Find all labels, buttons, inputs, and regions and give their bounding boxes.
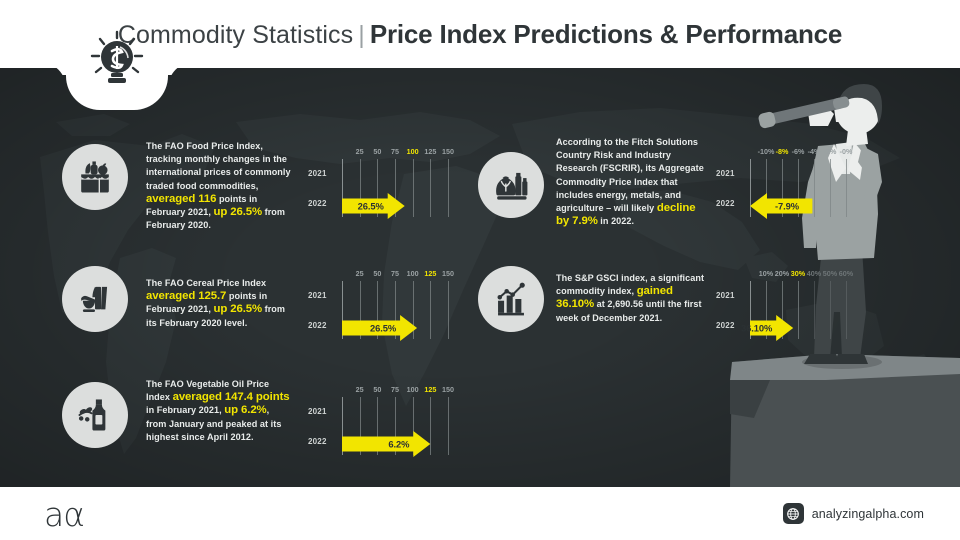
panel-4-description: According to the Fitch Solutions Country… <box>556 136 706 228</box>
body-text: in February 2021, <box>146 405 224 415</box>
chart-value-label: 26.5% <box>358 201 384 212</box>
chart-value-label: 36.10% <box>741 323 772 334</box>
highlight-text: averaged 116 <box>146 193 216 205</box>
footer-bar: aα analyzingalpha.com <box>0 487 960 540</box>
infographic-canvas: Commodity Statistics|Price Index Predict… <box>0 0 960 540</box>
body-text: in 2022. <box>598 216 634 226</box>
axis-tick-label: 25 <box>356 269 364 278</box>
chart-row-label-2021: 2021 <box>308 169 327 178</box>
site-credit: analyzingalpha.com <box>783 503 924 524</box>
highlight-text: averaged 125.7 <box>146 290 226 302</box>
chart-row-label-2022: 2022 <box>308 199 327 208</box>
chart-arrow: 6.2% <box>342 431 430 457</box>
panel-2-description: The FAO Cereal Price Index averaged 125.… <box>146 277 292 330</box>
axis-tick-label: 50 <box>373 147 381 156</box>
commodity-sacks-icon <box>478 152 544 218</box>
panel-1-description: The FAO Food Price Index, tracking month… <box>146 140 292 232</box>
chart-2-axis: 2550751001251502021202226.5% <box>308 267 458 347</box>
axis-tick-label: 100 <box>407 385 419 394</box>
grain-mortar-icon <box>62 266 128 332</box>
brand-logo: aα <box>44 495 84 534</box>
axis-gridline <box>448 397 449 455</box>
panel-5-description: The S&P GSCI index, a significant commod… <box>556 272 706 325</box>
chart-value-label: 6.2% <box>388 439 409 450</box>
axis-tick-label: -0% <box>840 147 853 156</box>
axis-gridline <box>448 159 449 217</box>
body-text: The FAO Food Price Index, tracking month… <box>146 141 291 191</box>
chart-sp-gsci-index: 10%20%30%40%50%60%2021202236.10% <box>716 267 856 347</box>
axis-tick-label: 100 <box>407 269 419 278</box>
chart-value-label: -7.9% <box>775 201 799 212</box>
bar-chart-growth-icon <box>478 266 544 332</box>
chart-row-label-2022: 2022 <box>308 437 327 446</box>
axis-tick-label: 150 <box>442 385 454 394</box>
chart-row-label-2021: 2021 <box>716 169 735 178</box>
chart-value-label: 26.5% <box>370 323 396 334</box>
axis-gridline <box>830 281 831 339</box>
chart-5-axis: 10%20%30%40%50%60%2021202236.10% <box>716 267 856 347</box>
chart-4-axis: -10%-8%-6%-4%-2%-0%20212022-7.9% <box>716 145 856 225</box>
chart-fao-cereal-price-index: 2550751001251502021202226.5% <box>308 267 458 347</box>
axis-tick-label: 20% <box>775 269 789 278</box>
chart-arrow: -7.9% <box>750 193 812 219</box>
chart-3-axis: 255075100125150202120226.2% <box>308 383 458 463</box>
axis-tick-label: 50% <box>823 269 837 278</box>
axis-tick-label: 40% <box>807 269 821 278</box>
axis-tick-label: 125 <box>424 147 436 156</box>
chart-row-label-2022: 2022 <box>308 321 327 330</box>
chart-fao-vegetable-oil-price-index: 255075100125150202120226.2% <box>308 383 458 463</box>
axis-gridline <box>430 281 431 339</box>
lightbulb-dollar-icon <box>82 24 152 94</box>
chart-row-label-2021: 2021 <box>716 291 735 300</box>
axis-tick-label: 50 <box>373 385 381 394</box>
chart-fscrir-index: -10%-8%-6%-4%-2%-0%20212022-7.9% <box>716 145 856 225</box>
globe-icon <box>783 503 804 524</box>
chart-row-label-2021: 2021 <box>308 407 327 416</box>
axis-tick-label: 25 <box>356 385 364 394</box>
chart-arrow: 26.5% <box>342 193 405 219</box>
title-separator: | <box>353 21 370 49</box>
grocery-basket-icon <box>62 144 128 210</box>
axis-tick-label: -4% <box>808 147 821 156</box>
axis-tick-label: 150 <box>442 147 454 156</box>
highlight-text: averaged 147.4 points <box>173 391 290 403</box>
axis-tick-label: 50 <box>373 269 381 278</box>
site-url: analyzingalpha.com <box>812 507 924 521</box>
axis-gridline <box>830 159 831 217</box>
axis-tick-label: 10% <box>759 269 773 278</box>
chart-row-label-2022: 2022 <box>716 199 735 208</box>
axis-gridline <box>413 159 414 217</box>
axis-tick-label: 60% <box>839 269 853 278</box>
axis-gridline <box>430 159 431 217</box>
highlight-text: up 6.2% <box>224 404 266 416</box>
axis-tick-label: 100 <box>407 147 419 156</box>
panel-3-description: The FAO Vegetable Oil Price Index averag… <box>146 378 292 444</box>
axis-gridline <box>846 281 847 339</box>
axis-tick-label: 75 <box>391 269 399 278</box>
title-light-part: Commodity Statistics <box>118 21 353 49</box>
chart-1-axis: 2550751001251502021202226.5% <box>308 145 458 225</box>
olive-oil-bottle-icon <box>62 382 128 448</box>
chart-arrow: 26.5% <box>342 315 417 341</box>
chart-row-label-2022: 2022 <box>716 321 735 330</box>
chart-row-label-2021: 2021 <box>308 291 327 300</box>
chart-fao-food-price-index: 2550751001251502021202226.5% <box>308 145 458 225</box>
axis-tick-label: 30% <box>791 269 805 278</box>
axis-tick-label: 125 <box>424 269 436 278</box>
axis-gridline <box>798 281 799 339</box>
axis-tick-label: -8% <box>776 147 789 156</box>
axis-tick-label: -2% <box>824 147 837 156</box>
axis-gridline <box>814 159 815 217</box>
axis-gridline <box>448 281 449 339</box>
axis-tick-label: 25 <box>356 147 364 156</box>
axis-tick-label: 150 <box>442 269 454 278</box>
axis-tick-label: -6% <box>792 147 805 156</box>
axis-gridline <box>814 281 815 339</box>
title-bold-part: Price Index Predictions & Performance <box>370 19 842 49</box>
body-text: The FAO Cereal Price Index <box>146 278 266 288</box>
axis-gridline <box>846 159 847 217</box>
axis-tick-label: 75 <box>391 385 399 394</box>
highlight-text: up 26.5% <box>213 206 262 218</box>
chart-arrow: 36.10% <box>750 315 793 341</box>
highlight-text: up 26.5% <box>213 303 262 315</box>
axis-tick-label: 75 <box>391 147 399 156</box>
body-text: The S&P GSCI index, a significant commod… <box>556 273 704 296</box>
axis-gridline <box>430 397 431 455</box>
axis-tick-label: -10% <box>758 147 775 156</box>
axis-tick-label: 125 <box>424 385 436 394</box>
